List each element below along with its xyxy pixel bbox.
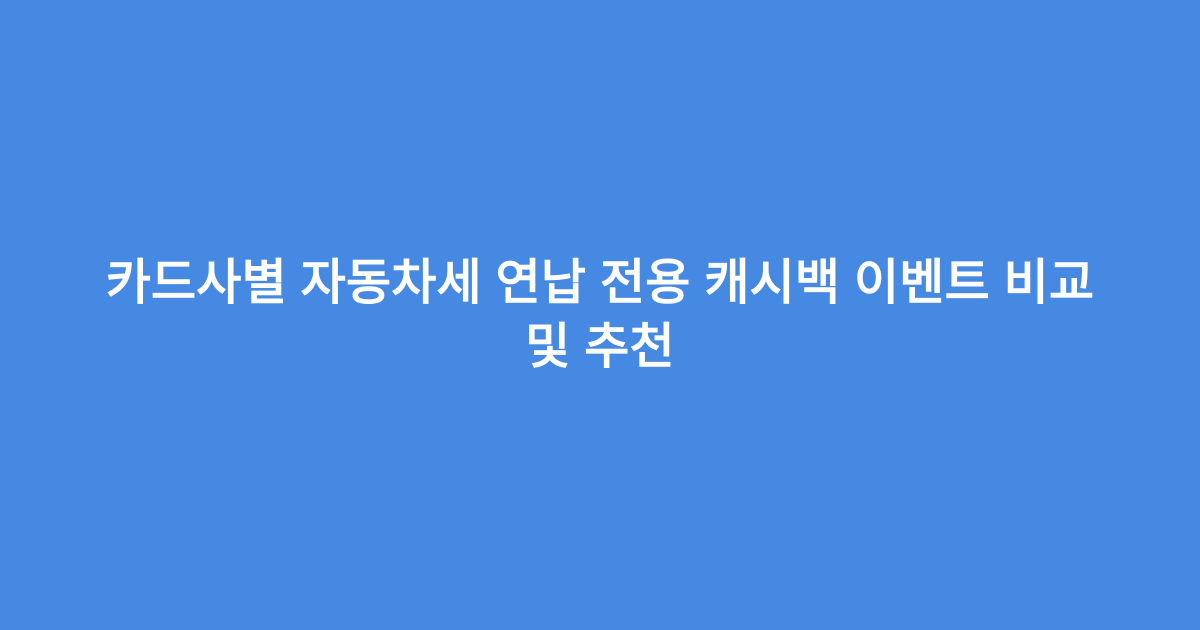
title-block: 카드사별 자동차세 연납 전용 캐시백 이벤트 비교 및 추천 bbox=[0, 251, 1200, 379]
og-card: 카드사별 자동차세 연납 전용 캐시백 이벤트 비교 및 추천 bbox=[0, 0, 1200, 630]
page-title: 카드사별 자동차세 연납 전용 캐시백 이벤트 비교 및 추천 bbox=[83, 251, 1118, 379]
